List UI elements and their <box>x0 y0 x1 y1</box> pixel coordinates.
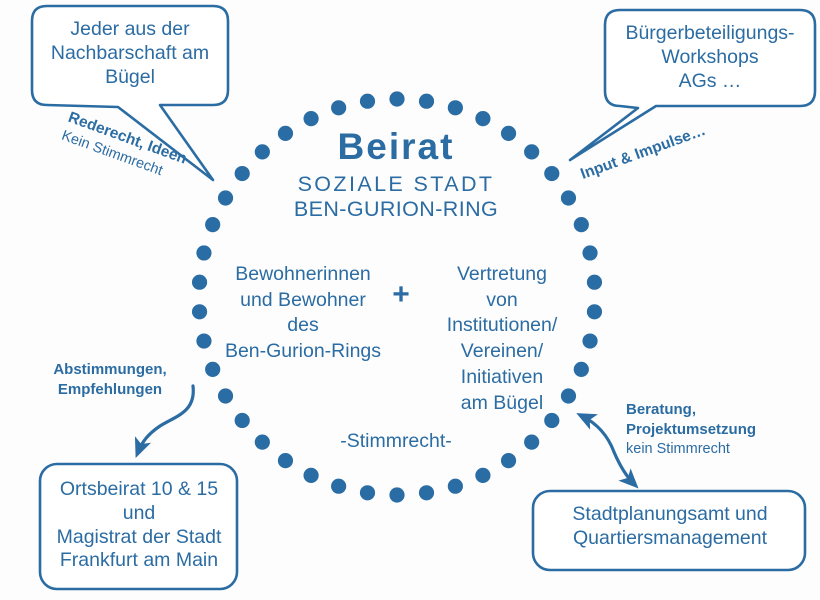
circle-column-right: Vertretung von Institutionen/ Vereinen/ … <box>412 262 592 416</box>
box-bottom-left-text: Ortsbeirat 10 & 15 und Magistrat der Sta… <box>44 478 234 573</box>
ring-dot <box>389 91 404 106</box>
connector-label-beratung-line2: Projektumsetzung <box>626 420 801 440</box>
connector-label-beratung: Beratung, Projektumsetzung kein Stimmrec… <box>626 400 801 459</box>
ring-dot <box>303 111 318 126</box>
ring-dot <box>218 190 233 205</box>
circle-title-sub1: SOZIALE STADT <box>246 173 546 197</box>
box-bottom-right-text: Stadtplanungsamt und Quartiersmanagement <box>540 503 800 551</box>
ring-dot <box>389 487 404 502</box>
circle-title-block: Beirat SOZIALE STADT BEN-GURION-RING <box>246 128 546 222</box>
ring-dot <box>218 388 233 403</box>
ring-dot <box>205 217 220 232</box>
ring-dot <box>196 333 211 348</box>
ring-dot <box>524 435 539 450</box>
ring-dot <box>448 100 463 115</box>
circle-column-left: Bewohnerinnen und Bewohner des Ben-Gurio… <box>212 262 394 365</box>
ring-dot <box>448 479 463 494</box>
circle-title-sub2: BEN-GURION-RING <box>246 198 546 222</box>
ring-dot <box>582 245 597 260</box>
ring-dot <box>331 100 346 115</box>
ring-dot <box>192 304 207 319</box>
ring-dot <box>331 479 346 494</box>
ring-dot <box>303 468 318 483</box>
ring-dot <box>561 190 576 205</box>
ring-dot <box>235 413 250 428</box>
circle-title-main: Beirat <box>246 128 546 167</box>
ring-dot <box>475 111 490 126</box>
circle-footer-stimmrecht: -Stimmrecht- <box>296 430 496 453</box>
ring-dot <box>278 453 293 468</box>
ring-dot <box>501 453 516 468</box>
ring-dot <box>475 468 490 483</box>
connector-label-abstimmungen: Abstimmungen, Empfehlungen <box>30 360 190 401</box>
ring-dot <box>544 166 559 181</box>
speech-bubble-top-left-text: Jeder aus der Nachbarschaft am Bügel <box>38 18 222 89</box>
speech-bubble-top-right-text: Bürgerbeteiligungs- Workshops AGs … <box>608 22 812 93</box>
ring-dot <box>360 485 375 500</box>
ring-dot <box>419 94 434 109</box>
ring-dot <box>574 217 589 232</box>
ring-dot <box>419 485 434 500</box>
ring-dot <box>196 245 211 260</box>
diagram-canvas: Jeder aus der Nachbarschaft am Bügel Bür… <box>0 0 820 600</box>
ring-dot <box>192 275 207 290</box>
connector-label-beratung-line1: Beratung, <box>626 400 801 420</box>
connector-label-beratung-line3: kein Stimmrecht <box>626 440 801 459</box>
ring-dot <box>255 435 270 450</box>
ring-dot <box>360 94 375 109</box>
